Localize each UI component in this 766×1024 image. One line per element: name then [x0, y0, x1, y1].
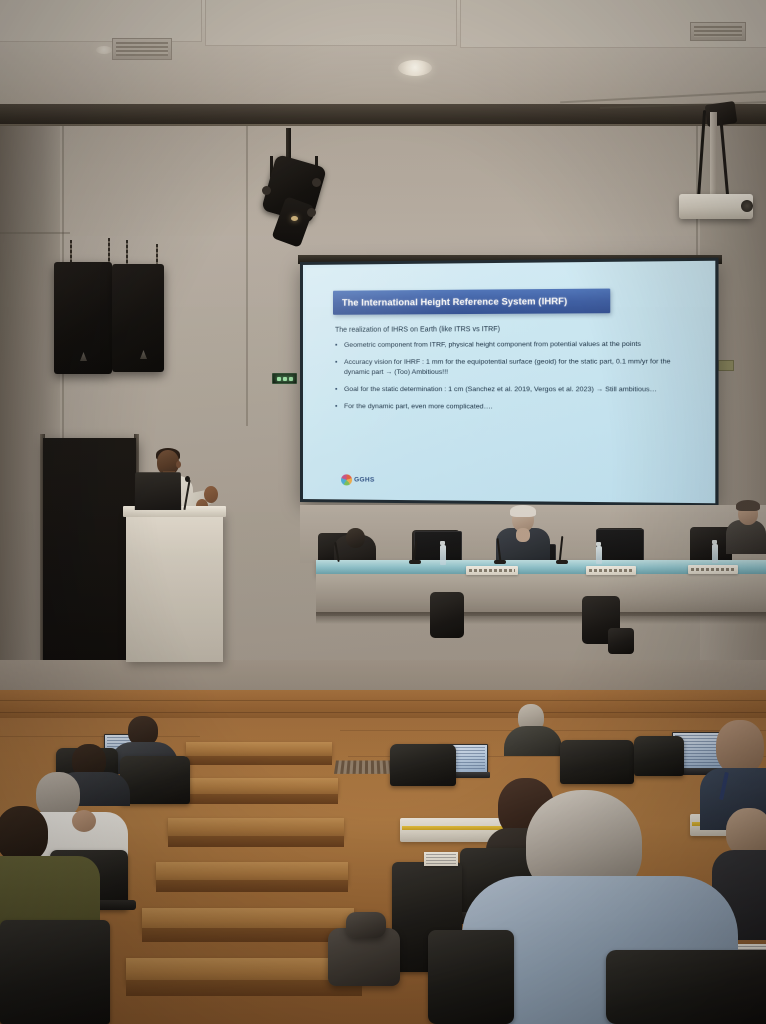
podium-microphone-icon: [185, 476, 190, 482]
ceiling-downlight: [398, 60, 432, 76]
ceiling-air-vent: [690, 22, 746, 41]
bottle-cap: [596, 542, 601, 546]
panel-table-front: [316, 574, 766, 616]
panel-microphone-base: [556, 560, 568, 564]
slide-bullet-text: For the dynamic part, even more complica…: [344, 402, 493, 413]
aisle-step-riser: [168, 836, 344, 847]
aisle-step-riser: [156, 880, 348, 892]
aisle-step-riser: [142, 928, 354, 942]
slide-bullet-text: Geometric component from ITRF, physical …: [344, 340, 641, 351]
attendee-paper: [424, 852, 458, 866]
panel-table-shadow: [316, 612, 766, 624]
bullet-marker-icon: ▪: [335, 341, 344, 351]
exit-sign-light: [277, 377, 281, 381]
gghs-globe-icon: [341, 474, 352, 485]
ceiling-air-vent: [112, 38, 172, 60]
upper-wall-band: [0, 126, 766, 236]
slide-bullet-item: ▪ Goal for the static determination : 1 …: [335, 385, 686, 396]
panel-nameplate: [688, 565, 738, 574]
backpack-strap: [346, 912, 386, 938]
panelist-body: [726, 520, 766, 554]
panel-nameplate: [466, 566, 518, 575]
exit-sign-icon: [272, 373, 297, 384]
bottle-cap: [440, 541, 445, 545]
floor-line: [0, 712, 766, 713]
slide-footer-logo: GGHS: [341, 474, 375, 485]
auditorium-seat: [560, 740, 634, 784]
bottle-cap: [712, 540, 717, 544]
spotlight-knob: [312, 178, 321, 187]
spotlight-knob: [262, 186, 271, 195]
wall-seam: [246, 126, 248, 426]
auditorium-seat: [428, 930, 514, 1024]
ceiling-downlight: [96, 46, 112, 54]
attendee-head: [716, 720, 764, 774]
podium-laptop: [135, 472, 181, 510]
auditorium-seat: [634, 736, 684, 776]
floor-plank: [0, 736, 200, 737]
aisle-step-riser: [178, 794, 338, 804]
slide-title-bar: The International Height Reference Syste…: [333, 289, 610, 315]
attendee-shoulders: [504, 726, 562, 756]
slide-bullet-text: Goal for the static determination : 1 cm…: [344, 385, 657, 396]
slide-footer-logo-text: GGHS: [354, 476, 375, 483]
projector-lens-icon: [741, 200, 753, 212]
wall-seam: [0, 232, 70, 234]
auditorium-seat: [390, 744, 456, 786]
auditorium-photo: The International Height Reference Syste…: [0, 0, 766, 1024]
water-bottle: [712, 544, 718, 563]
presentation-slide: The International Height Reference Syste…: [303, 261, 715, 503]
panelist-hands: [516, 528, 530, 542]
aisle-step: [168, 818, 344, 838]
attendee-head: [726, 808, 766, 856]
projection-screen: The International Height Reference Syste…: [300, 258, 719, 507]
bullet-marker-icon: ▪: [335, 358, 344, 378]
ceiling-panel: [205, 0, 457, 46]
floor-line: [0, 700, 766, 701]
paper-content: [426, 854, 456, 864]
panel-nameplate: [586, 566, 636, 575]
bag-under-table: [608, 628, 634, 654]
projector-mount-pole: [710, 112, 717, 197]
water-bottle: [440, 545, 446, 565]
attendee-hand: [72, 810, 96, 832]
exit-sign-light: [283, 377, 287, 381]
aisle-step-riser: [186, 756, 332, 765]
aisle-step-riser: [126, 980, 362, 996]
wall-plate: [718, 360, 734, 371]
slide-bullet-text: Accuracy vision for IHRF : 1 mm for the …: [344, 357, 686, 377]
panelist-hair: [510, 505, 536, 517]
slide-body: The realization of IHRS on Earth (like I…: [335, 325, 686, 420]
attendee-head: [0, 806, 48, 862]
event-rollup-banner: GGHS 2024 Symposium 4-6 September 2024 T…: [43, 438, 136, 690]
slide-title: The International Height Reference Syste…: [333, 296, 567, 308]
slide-bullet-item: ▪ For the dynamic part, even more compli…: [335, 402, 686, 413]
speaker-podium: [126, 512, 223, 662]
bullet-marker-icon: ▪: [335, 402, 344, 412]
spotlight-knob: [307, 208, 316, 217]
auditorium-seat: [606, 950, 766, 1024]
slide-bullet-item: ▪ Accuracy vision for IHRF : 1 mm for th…: [335, 357, 686, 377]
presenter-ear: [176, 461, 181, 468]
bullet-marker-icon: ▪: [335, 385, 344, 395]
exit-sign-light: [289, 377, 293, 381]
floor-front-edge: [0, 690, 766, 718]
panel-microphone-base: [494, 560, 506, 564]
foreground-chair: [430, 592, 464, 638]
speaker-chain: [126, 240, 128, 266]
hanging-pa-speaker: [112, 264, 164, 372]
spotlight-lens-glint: [291, 216, 298, 221]
ceiling-panel: [0, 0, 202, 42]
auditorium-seat: [0, 920, 110, 1024]
panelist-hair: [736, 500, 760, 511]
panel-microphone-base: [409, 560, 421, 564]
slide-lead-text: The realization of IHRS on Earth (like I…: [335, 325, 686, 334]
water-bottle: [596, 546, 602, 564]
panelist-head: [346, 528, 365, 548]
auditorium-seat: [120, 756, 190, 804]
slide-bullet-item: ▪ Geometric component from ITRF, physica…: [335, 340, 686, 351]
